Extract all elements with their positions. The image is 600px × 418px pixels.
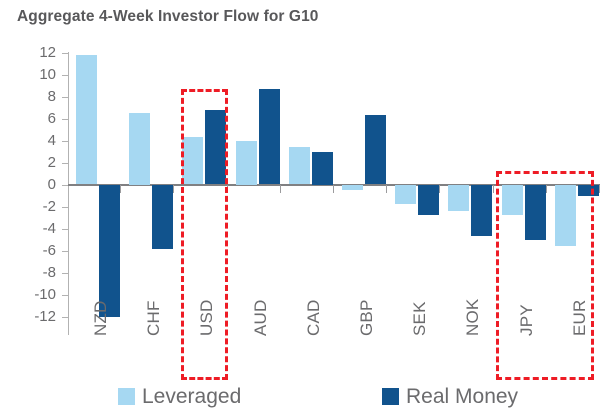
x-axis-label-aud: AUD bbox=[251, 288, 271, 336]
x-tick-mark bbox=[333, 185, 334, 193]
jpy-eur-highlight-box bbox=[496, 171, 594, 380]
usd-highlight-box bbox=[181, 89, 228, 380]
bar-nok-real-money bbox=[471, 185, 492, 237]
bar-gbp-leveraged bbox=[342, 185, 363, 191]
bar-chf-real-money bbox=[152, 185, 173, 250]
bar-group-nok bbox=[446, 0, 494, 418]
bar-sek-leveraged bbox=[395, 185, 416, 205]
bar-aud-leveraged bbox=[236, 141, 257, 185]
y-tick-label: -4 bbox=[12, 221, 56, 236]
legend-item-leveraged: Leveraged bbox=[118, 386, 241, 407]
bar-cad-real-money bbox=[312, 152, 333, 185]
bar-group-gbp bbox=[340, 0, 388, 418]
x-axis-label-chf: CHF bbox=[144, 288, 164, 336]
bar-cad-leveraged bbox=[289, 147, 310, 184]
x-tick-mark bbox=[173, 185, 174, 193]
x-tick-mark bbox=[439, 185, 440, 193]
bar-group-cad bbox=[287, 0, 335, 418]
y-tick-label: 0 bbox=[12, 177, 56, 192]
legend-label-leveraged: Leveraged bbox=[142, 386, 241, 407]
x-tick-mark bbox=[280, 185, 281, 193]
legend-item-real-money: Real Money bbox=[382, 386, 518, 407]
legend-swatch-leveraged bbox=[118, 388, 135, 405]
bar-nzd-leveraged bbox=[76, 55, 97, 185]
bar-nok-leveraged bbox=[448, 185, 469, 211]
y-tick-label: 4 bbox=[12, 133, 56, 148]
chart-container: Aggregate 4-Week Investor Flow for G10 1… bbox=[0, 0, 600, 418]
y-tick-label: 6 bbox=[12, 111, 56, 126]
y-tick-label: -6 bbox=[12, 243, 56, 258]
y-tick-label: 8 bbox=[12, 89, 56, 104]
bar-chf-leveraged bbox=[129, 113, 150, 185]
x-tick-mark bbox=[120, 185, 121, 193]
bar-group-nzd bbox=[74, 0, 122, 418]
x-tick-mark bbox=[386, 185, 387, 193]
legend-label-real-money: Real Money bbox=[406, 386, 518, 407]
y-tick-label: -8 bbox=[12, 265, 56, 280]
x-axis-label-cad: CAD bbox=[304, 288, 324, 336]
bar-gbp-real-money bbox=[365, 115, 386, 184]
y-tick-label: 12 bbox=[12, 45, 56, 60]
bar-group-sek bbox=[393, 0, 441, 418]
bar-group-aud bbox=[234, 0, 282, 418]
x-tick-mark bbox=[493, 185, 494, 193]
chart-legend: Leveraged Real Money bbox=[0, 382, 600, 418]
x-axis-label-nzd: NZD bbox=[91, 288, 111, 336]
y-tick-label: 10 bbox=[12, 67, 56, 82]
legend-swatch-real-money bbox=[382, 388, 399, 405]
bar-sek-real-money bbox=[418, 185, 439, 216]
y-tick-label: -2 bbox=[12, 199, 56, 214]
y-axis-line bbox=[68, 52, 69, 335]
y-tick-label: -10 bbox=[12, 287, 56, 302]
bar-group-chf bbox=[127, 0, 175, 418]
x-axis-label-nok: NOK bbox=[463, 288, 483, 336]
x-axis-label-gbp: GBP bbox=[357, 288, 377, 336]
bar-aud-real-money bbox=[259, 89, 280, 185]
y-tick-label: 2 bbox=[12, 155, 56, 170]
y-axis: 121086420-2-4-6-8-10-12 bbox=[0, 0, 68, 418]
x-axis-label-sek: SEK bbox=[410, 288, 430, 336]
y-tick-label: -12 bbox=[12, 309, 56, 324]
